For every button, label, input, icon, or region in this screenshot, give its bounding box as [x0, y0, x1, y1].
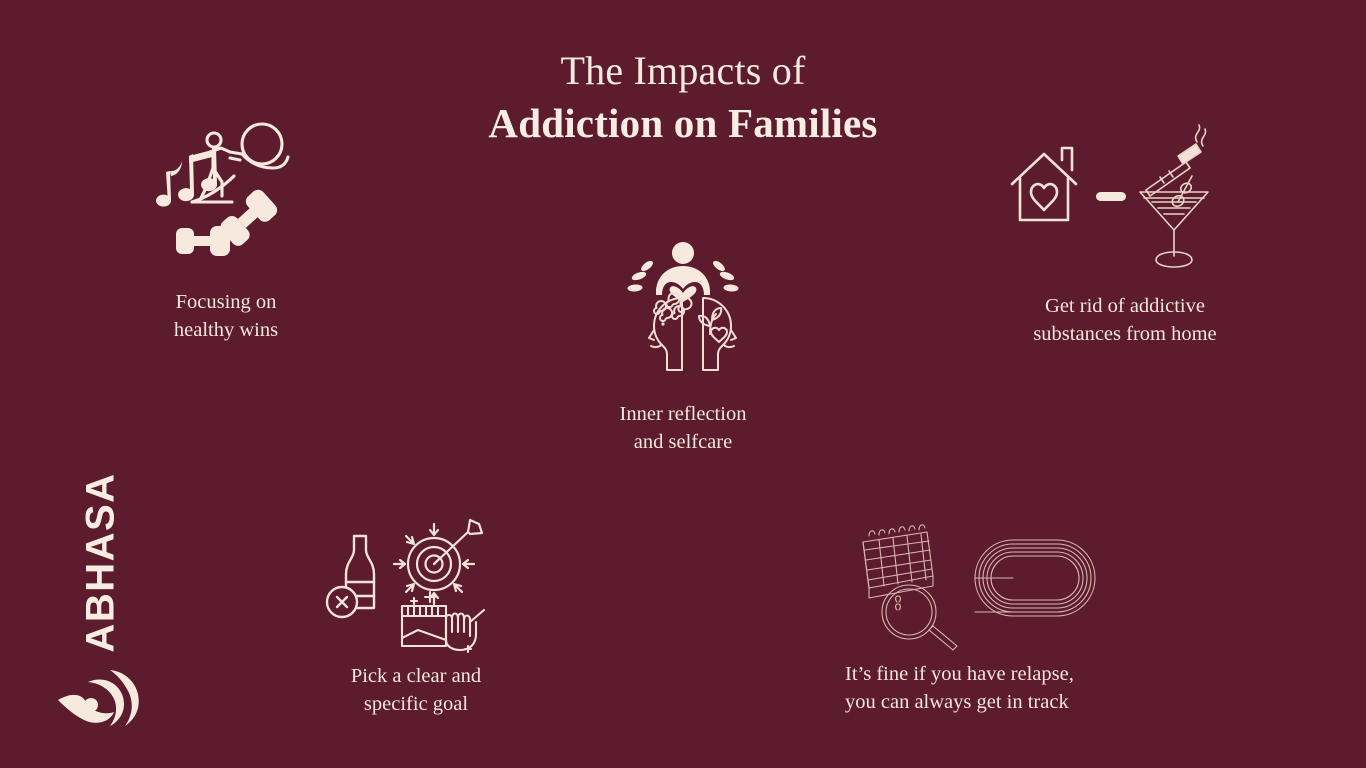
remove-substances-caption: Get rid of addictive substances from hom…: [1000, 292, 1250, 349]
item-relapse-ok: It’s fine if you have relapse, you can a…: [845, 520, 1107, 717]
item-inner-reflection: Inner reflection and selfcare: [583, 238, 783, 457]
clear-goal-artwork: [318, 518, 514, 650]
music-notes-icon: [156, 147, 217, 207]
no-alcohol-bottle-icon: [327, 536, 374, 617]
relapse-ok-artwork: [845, 520, 1107, 650]
head-with-plant-heart-icon: [699, 298, 736, 370]
item-healthy-wins: Focusing on healthy wins: [126, 118, 326, 345]
inner-reflection-caption: Inner reflection and selfcare: [583, 400, 783, 457]
healthy-wins-artwork: [126, 118, 326, 278]
magnifier-icon: [882, 585, 957, 650]
person-holding-heart-icon: [627, 242, 738, 302]
person-pushing-ball-icon: [192, 124, 288, 202]
title-line-1: The Impacts of: [0, 48, 1366, 94]
spiral-wave-icon: [58, 664, 142, 730]
clear-goal-caption: Pick a clear and specific goal: [318, 662, 514, 719]
cigarette-pack-hand-icon: [402, 592, 484, 652]
abhasa-logo-wordmark: ABHASA: [79, 468, 124, 658]
running-track-icon: [975, 540, 1095, 616]
martini-glass-icon: [1140, 176, 1208, 267]
inner-reflection-artwork: [583, 238, 783, 378]
item-remove-substances: Get rid of addictive substances from hom…: [1000, 128, 1250, 349]
abhasa-logo[interactable]: ABHASA: [52, 478, 148, 730]
target-with-arrow-icon: [394, 520, 482, 604]
relapse-ok-caption: It’s fine if you have relapse, you can a…: [845, 660, 1107, 717]
house-with-heart-icon: [1012, 148, 1076, 220]
minus-icon: [1096, 192, 1126, 201]
remove-substances-artwork: [1000, 128, 1250, 276]
item-clear-goal: Pick a clear and specific goal: [318, 518, 514, 719]
head-with-spirals-icon: [649, 293, 691, 370]
healthy-wins-caption: Focusing on healthy wins: [126, 288, 326, 345]
cigarette-smoke-icon: [1146, 125, 1206, 196]
